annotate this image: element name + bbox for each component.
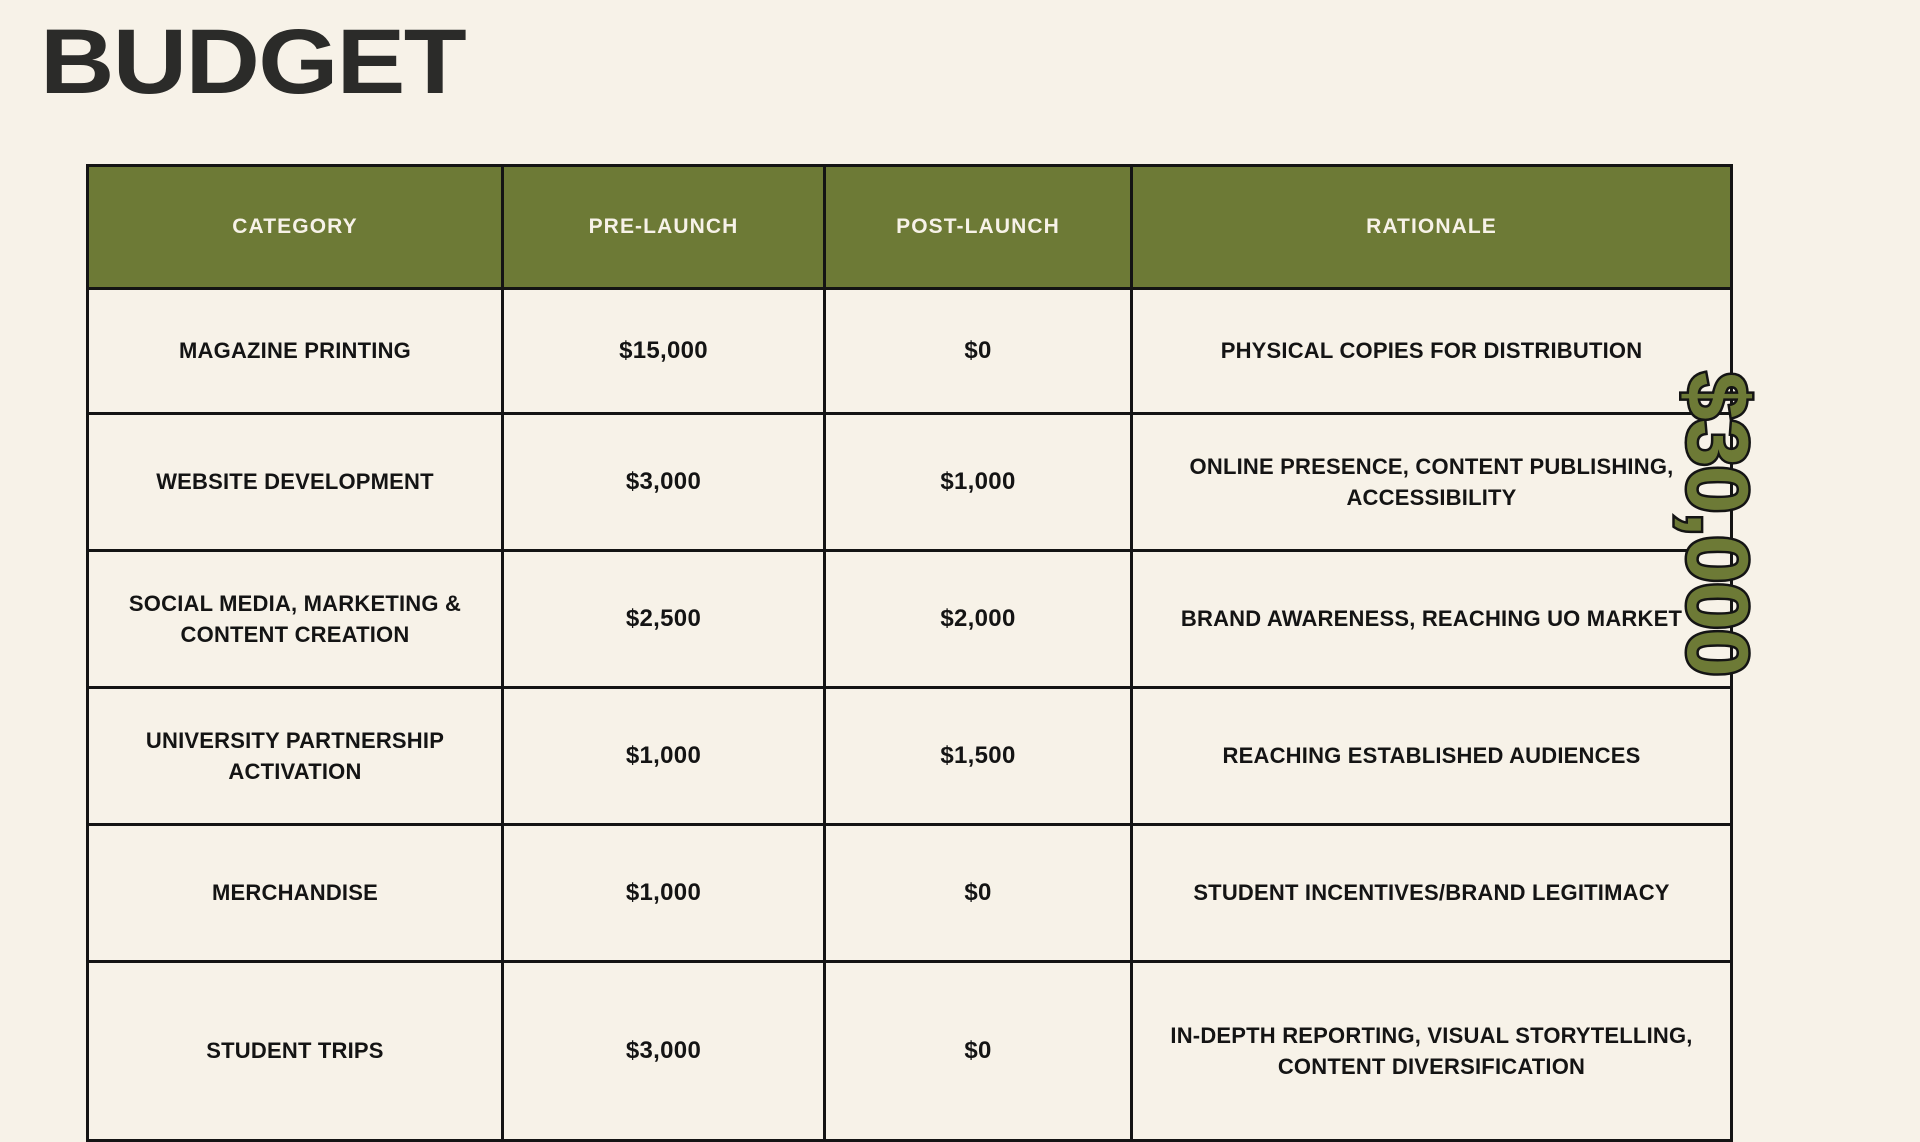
column-header-post-launch: POST-LAUNCH xyxy=(825,166,1132,289)
cell-rationale: PHYSICAL COPIES FOR DISTRIBUTION xyxy=(1132,289,1732,414)
table-row: SOCIAL MEDIA, MARKETING & CONTENT CREATI… xyxy=(88,551,1732,688)
cell-rationale: STUDENT INCENTIVES/BRAND LEGITIMACY xyxy=(1132,825,1732,962)
cell-pre-launch: $3,000 xyxy=(503,414,825,551)
table-body: MAGAZINE PRINTING $15,000 $0 PHYSICAL CO… xyxy=(88,289,1732,1141)
cell-category: UNIVERSITY PARTNERSHIP ACTIVATION xyxy=(88,688,503,825)
table-row: UNIVERSITY PARTNERSHIP ACTIVATION $1,000… xyxy=(88,688,1732,825)
table-row: WEBSITE DEVELOPMENT $3,000 $1,000 ONLINE… xyxy=(88,414,1732,551)
cell-post-launch: $2,000 xyxy=(825,551,1132,688)
budget-table: CATEGORY PRE-LAUNCH POST-LAUNCH RATIONAL… xyxy=(86,164,1733,1142)
cell-category: STUDENT TRIPS xyxy=(88,962,503,1141)
cell-rationale: BRAND AWARENESS, REACHING UO MARKET xyxy=(1132,551,1732,688)
budget-slide: BUDGET CATEGORY PRE-LAUNCH POST-LAUNCH R… xyxy=(0,0,1920,1080)
column-header-pre-launch: PRE-LAUNCH xyxy=(503,166,825,289)
cell-post-launch: $1,500 xyxy=(825,688,1132,825)
cell-post-launch: $1,000 xyxy=(825,414,1132,551)
cell-category: MAGAZINE PRINTING xyxy=(88,289,503,414)
cell-post-launch: $0 xyxy=(825,962,1132,1141)
cell-rationale: ONLINE PRESENCE, CONTENT PUBLISHING, ACC… xyxy=(1132,414,1732,551)
budget-table-container: CATEGORY PRE-LAUNCH POST-LAUNCH RATIONAL… xyxy=(86,164,1730,1142)
cell-rationale: IN-DEPTH REPORTING, VISUAL STORYTELLING,… xyxy=(1132,962,1732,1141)
table-header-row: CATEGORY PRE-LAUNCH POST-LAUNCH RATIONAL… xyxy=(88,166,1732,289)
column-header-rationale: RATIONALE xyxy=(1132,166,1732,289)
cell-category: WEBSITE DEVELOPMENT xyxy=(88,414,503,551)
cell-category: MERCHANDISE xyxy=(88,825,503,962)
cell-pre-launch: $1,000 xyxy=(503,825,825,962)
table-header: CATEGORY PRE-LAUNCH POST-LAUNCH RATIONAL… xyxy=(88,166,1732,289)
cell-pre-launch: $3,000 xyxy=(503,962,825,1141)
cell-pre-launch: $15,000 xyxy=(503,289,825,414)
cell-pre-launch: $1,000 xyxy=(503,688,825,825)
cell-post-launch: $0 xyxy=(825,825,1132,962)
cell-rationale: REACHING ESTABLISHED AUDIENCES xyxy=(1132,688,1732,825)
cell-pre-launch: $2,500 xyxy=(503,551,825,688)
column-header-category: CATEGORY xyxy=(88,166,503,289)
total-budget-amount: $30,000 xyxy=(1674,372,1760,852)
table-row: MERCHANDISE $1,000 $0 STUDENT INCENTIVES… xyxy=(88,825,1732,962)
page-title: BUDGET xyxy=(40,14,465,111)
table-row: MAGAZINE PRINTING $15,000 $0 PHYSICAL CO… xyxy=(88,289,1732,414)
table-row: STUDENT TRIPS $3,000 $0 IN-DEPTH REPORTI… xyxy=(88,962,1732,1141)
cell-category: SOCIAL MEDIA, MARKETING & CONTENT CREATI… xyxy=(88,551,503,688)
cell-post-launch: $0 xyxy=(825,289,1132,414)
